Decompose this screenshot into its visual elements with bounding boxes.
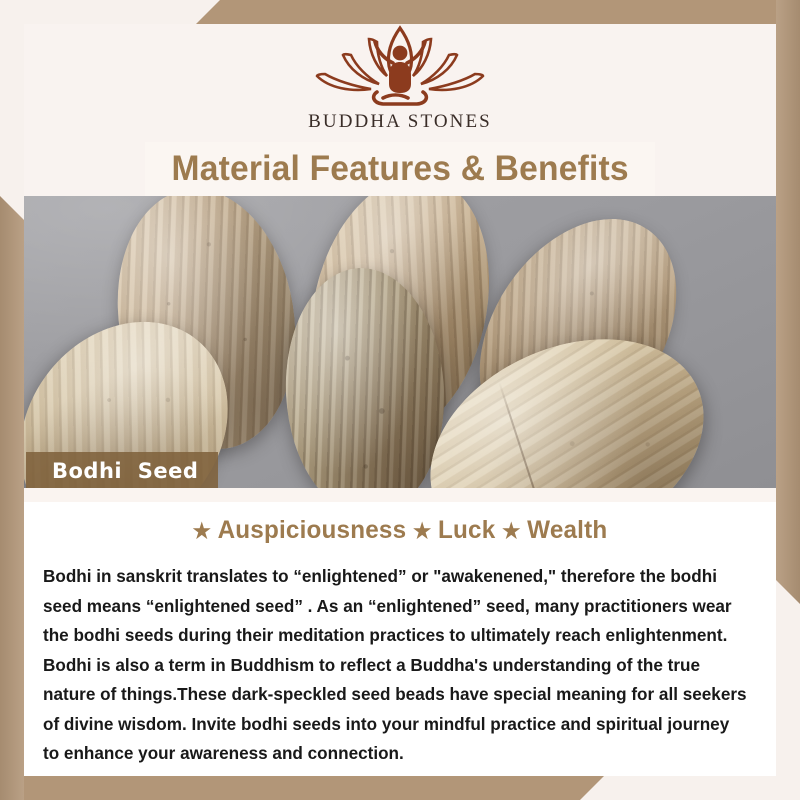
content-panel: ★ Auspiciousness ★ Luck ★ Wealth Bodhi i…: [24, 488, 776, 776]
star-icon: ★: [413, 520, 431, 543]
photo-caption-bar: Bodhi Seed: [26, 452, 218, 489]
content-top-strip: [24, 488, 776, 502]
frame-border-bottom: [0, 776, 800, 800]
lotus-meditation-figure-icon: [307, 22, 493, 108]
benefit-label-luck: Luck: [438, 516, 495, 544]
star-icon: ★: [502, 520, 520, 543]
title-banner: Material Features & Benefits: [145, 142, 655, 196]
benefits-headline: ★ Auspiciousness ★ Luck ★ Wealth: [35, 516, 764, 545]
brand-logo: BUDDHA STONES: [0, 22, 800, 133]
benefit-label-auspiciousness: Auspiciousness: [218, 516, 407, 544]
description-paragraph: Bodhi in sanskrit translates to “enlight…: [43, 562, 748, 769]
page-title: Material Features & Benefits: [171, 149, 628, 189]
photo-caption-label: Bodhi Seed: [52, 459, 198, 483]
star-icon: ★: [193, 520, 211, 543]
benefit-label-wealth: Wealth: [527, 516, 607, 544]
frame-border-top: [0, 0, 800, 24]
product-photo: [24, 196, 776, 488]
frame-border-left: [0, 196, 24, 800]
infographic-page: BUDDHA STONES Material Features & Benefi…: [0, 0, 800, 800]
brand-wordmark: BUDDHA STONES: [0, 111, 800, 133]
